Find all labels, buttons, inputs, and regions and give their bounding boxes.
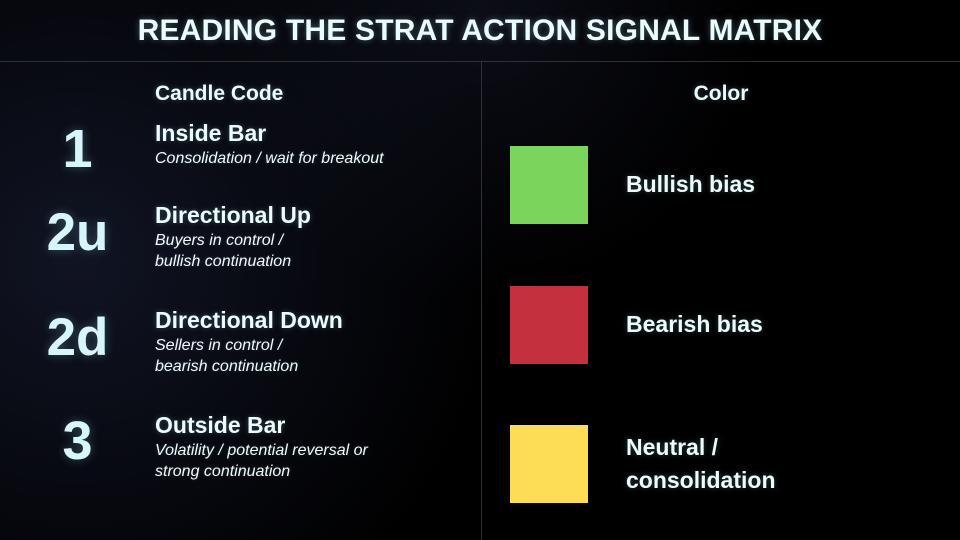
list-item-color-neutral: Neutral /consolidation [482, 425, 960, 503]
candle-code-description: Buyers in control /bullish continuation [155, 231, 471, 271]
red-swatch [510, 286, 588, 364]
candle-code-name: Directional Up [155, 202, 471, 228]
candle-code-glyph: 1 [0, 120, 155, 176]
list-item-candle-code-2d: 2d Directional Down Sellers in control /… [0, 307, 481, 412]
candle-code-description: Sellers in control /bearish continuation [155, 336, 471, 376]
slide-root: READING THE STRAT ACTION SIGNAL MATRIX C… [0, 0, 960, 540]
candle-code-body: Inside Bar Consolidation / wait for brea… [155, 120, 481, 170]
candle-code-description: Volatility / potential reversal orstrong… [155, 441, 471, 481]
title-bar: READING THE STRAT ACTION SIGNAL MATRIX [0, 0, 960, 61]
candle-code-body: Directional Up Buyers in control /bullis… [155, 202, 481, 272]
candle-code-column-header: Candle Code [155, 82, 283, 106]
color-column: Color Bullish bias Bearish bias Neutral … [482, 62, 960, 540]
color-column-header: Color [482, 82, 960, 106]
list-item-candle-code-2u: 2u Directional Up Buyers in control /bul… [0, 202, 481, 307]
candle-code-name: Inside Bar [155, 120, 471, 146]
green-swatch [510, 146, 588, 224]
candle-code-name: Directional Down [155, 307, 471, 333]
candle-code-column: Candle Code 1 Inside Bar Consolidation /… [0, 62, 481, 540]
candle-code-list: 1 Inside Bar Consolidation / wait for br… [0, 120, 481, 517]
candle-code-glyph: 2u [0, 202, 155, 259]
list-item-candle-code-3: 3 Outside Bar Volatility / potential rev… [0, 412, 481, 517]
list-item-candle-code-1: 1 Inside Bar Consolidation / wait for br… [0, 120, 481, 202]
color-label: Bearish bias [626, 308, 763, 341]
candle-code-glyph: 2d [0, 307, 155, 364]
page-title: READING THE STRAT ACTION SIGNAL MATRIX [138, 14, 823, 48]
color-label: Bullish bias [626, 168, 755, 201]
candle-code-name: Outside Bar [155, 412, 471, 438]
candle-code-body: Outside Bar Volatility / potential rever… [155, 412, 481, 482]
candle-code-description: Consolidation / wait for breakout [155, 149, 471, 169]
list-item-color-bullish: Bullish bias [482, 146, 960, 224]
list-item-color-bearish: Bearish bias [482, 286, 960, 364]
candle-code-glyph: 3 [0, 412, 155, 468]
candle-code-body: Directional Down Sellers in control /bea… [155, 307, 481, 377]
color-label: Neutral /consolidation [626, 431, 776, 498]
yellow-swatch [510, 425, 588, 503]
